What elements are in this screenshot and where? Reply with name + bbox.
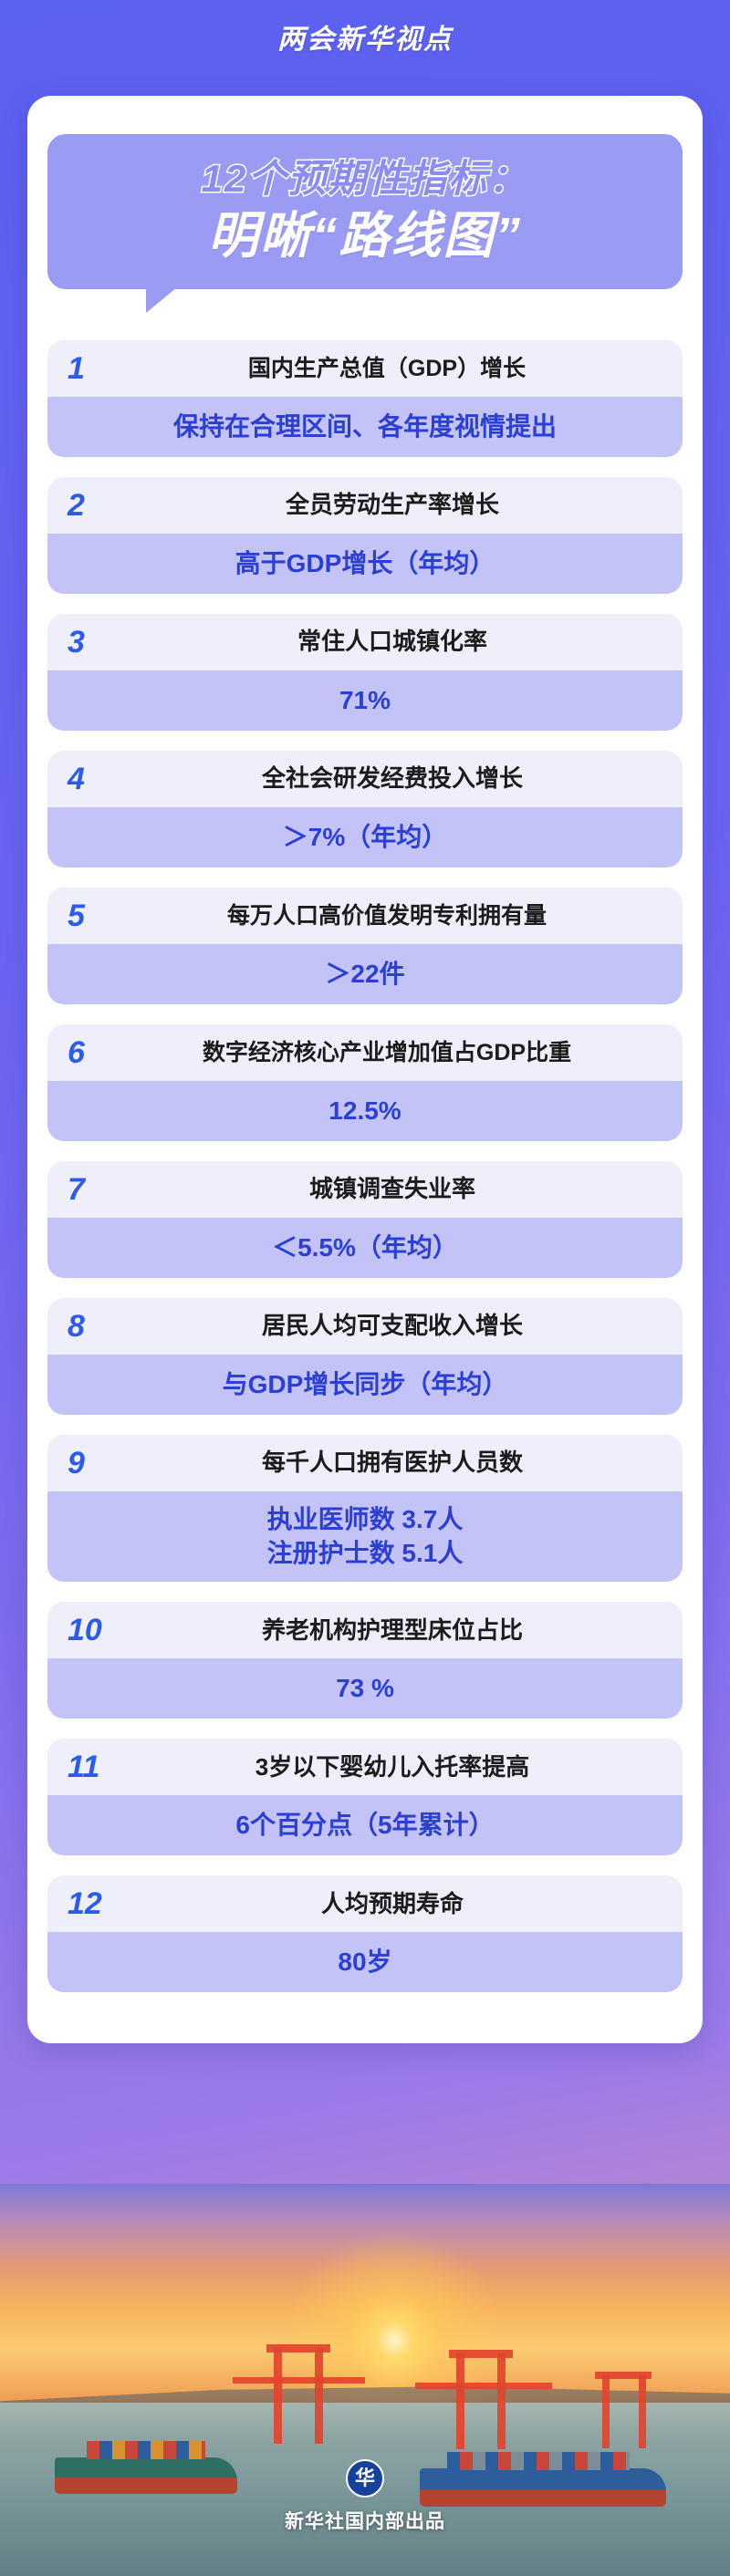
indicator-number: 12 (68, 1888, 102, 1919)
title-section: 12个预期性指标： 明晰“路线图” (27, 134, 703, 289)
title-line-2: 明晰“路线图” (47, 205, 683, 265)
indicator-value: 与GDP增长同步（年均） (47, 1355, 683, 1415)
title-banner: 12个预期性指标： 明晰“路线图” (47, 134, 683, 289)
indicator-number: 11 (68, 1751, 99, 1782)
indicator-item: 1国内生产总值（GDP）增长保持在合理区间、各年度视情提出 (47, 340, 683, 457)
indicator-value: ＞7%（年均） (47, 807, 683, 867)
indicator-item: 7城镇调查失业率＜5.5%（年均） (47, 1161, 683, 1278)
crane-icon (497, 2353, 506, 2449)
crane-icon (595, 2372, 652, 2379)
indicator-number: 7 (68, 1174, 85, 1205)
indicator-item: 6数字经济核心产业增加值占GDP比重12.5% (47, 1024, 683, 1141)
indicator-item: 5每万人口高价值发明专利拥有量＞22件 (47, 888, 683, 1004)
indicator-label: 居民人均可支配收入增长 (47, 1312, 683, 1340)
indicator-header: 3常住人口城镇化率 (47, 614, 683, 670)
indicator-value: ＜5.5%（年均） (47, 1218, 683, 1278)
indicator-item: 9每千人口拥有医护人员数执业医师数 3.7人 注册护士数 5.1人 (47, 1435, 683, 1583)
indicator-value: 71% (47, 670, 683, 731)
indicator-number: 9 (68, 1448, 85, 1479)
indicator-header: 8居民人均可支配收入增长 (47, 1298, 683, 1355)
indicator-value: 80岁 (47, 1932, 683, 1992)
indicator-number: 10 (68, 1615, 102, 1646)
indicator-value: 73 % (47, 1658, 683, 1719)
page-header: 两会新华视点 (0, 0, 730, 73)
indicator-value: 保持在合理区间、各年度视情提出 (47, 397, 683, 457)
indicator-value: 6个百分点（5年累计） (47, 1795, 683, 1855)
indicator-value: 执业医师数 3.7人 注册护士数 5.1人 (47, 1491, 683, 1583)
indicator-value: 12.5% (47, 1081, 683, 1141)
crane-icon (639, 2375, 646, 2448)
indicator-number: 4 (68, 763, 85, 795)
indicator-item: 8居民人均可支配收入增长与GDP增长同步（年均） (47, 1298, 683, 1415)
title-line-1: 12个预期性指标： (47, 156, 683, 202)
container-ship (420, 2468, 666, 2507)
indicator-header: 9每千人口拥有医护人员数 (47, 1435, 683, 1491)
indicator-number: 3 (68, 627, 85, 658)
indicator-item: 3常住人口城镇化率71% (47, 614, 683, 731)
indicator-item: 4全社会研发经费投入增长＞7%（年均） (47, 751, 683, 867)
crane-icon (449, 2350, 513, 2358)
indicator-label: 数字经济核心产业增加值占GDP比重 (47, 1039, 683, 1066)
indicator-header: 12人均预期寿命 (47, 1875, 683, 1932)
indicator-item: 113岁以下婴幼儿入托率提高6个百分点（5年累计） (47, 1739, 683, 1855)
crane-icon (233, 2377, 365, 2384)
indicator-number: 8 (68, 1311, 85, 1342)
indicator-header: 10养老机构护理型床位占比 (47, 1602, 683, 1658)
header-title: 两会新华视点 (277, 16, 453, 57)
indicator-item: 10养老机构护理型床位占比73 % (47, 1602, 683, 1719)
footer-harbor-photo: 华 新华社国内部出品 (0, 2184, 730, 2576)
indicator-label: 常住人口城镇化率 (47, 628, 683, 656)
indicator-number: 5 (68, 900, 85, 931)
speech-bubble-tail (146, 287, 177, 313)
indicator-header: 5每万人口高价值发明专利拥有量 (47, 888, 683, 944)
indicator-header: 6数字经济核心产业增加值占GDP比重 (47, 1024, 683, 1081)
indicator-number: 1 (68, 353, 85, 384)
main-card: 12个预期性指标： 明晰“路线图” 1国内生产总值（GDP）增长保持在合理区间、… (27, 96, 703, 2043)
indicator-label: 国内生产总值（GDP）增长 (47, 355, 683, 382)
indicator-value: ＞22件 (47, 944, 683, 1004)
footer-credit: 新华社国内部出品 (0, 2507, 730, 2534)
indicator-label: 每千人口拥有医护人员数 (47, 1449, 683, 1477)
indicator-label: 养老机构护理型床位占比 (47, 1616, 683, 1645)
indicator-header: 4全社会研发经费投入增长 (47, 751, 683, 807)
crane-icon (315, 2348, 323, 2444)
crane-icon (274, 2348, 282, 2444)
indicator-label: 全社会研发经费投入增长 (47, 764, 683, 793)
indicator-header: 113岁以下婴幼儿入托率提高 (47, 1739, 683, 1795)
indicator-value: 高于GDP增长（年均） (47, 534, 683, 594)
infographic-page: 两会新华视点 12个预期性指标： 明晰“路线图” 1国内生产总值（GDP）增长保… (0, 0, 730, 2576)
crane-icon (415, 2383, 552, 2389)
indicator-list: 1国内生产总值（GDP）增长保持在合理区间、各年度视情提出2全员劳动生产率增长高… (27, 289, 703, 1993)
xinhua-logo-icon: 华 (346, 2459, 384, 2498)
indicator-label: 城镇调查失业率 (47, 1175, 683, 1203)
crane-icon (602, 2375, 610, 2448)
indicator-header: 1国内生产总值（GDP）增长 (47, 340, 683, 397)
container-stack (447, 2452, 630, 2470)
indicator-label: 3岁以下婴幼儿入托率提高 (47, 1753, 683, 1781)
indicator-header: 2全员劳动生产率增长 (47, 477, 683, 534)
logo-mark: 华 (355, 2468, 375, 2488)
indicator-item: 12人均预期寿命80岁 (47, 1875, 683, 1992)
crane-icon (266, 2344, 330, 2353)
indicator-label: 人均预期寿命 (47, 1890, 683, 1918)
indicator-number: 2 (68, 490, 85, 521)
indicator-item: 2全员劳动生产率增长高于GDP增长（年均） (47, 477, 683, 594)
container-ship (55, 2457, 237, 2494)
indicator-number: 6 (68, 1037, 85, 1068)
crane-icon (456, 2353, 464, 2449)
container-stack (87, 2441, 205, 2459)
indicator-label: 全员劳动生产率增长 (47, 491, 683, 519)
indicator-label: 每万人口高价值发明专利拥有量 (47, 902, 683, 930)
indicator-header: 7城镇调查失业率 (47, 1161, 683, 1218)
